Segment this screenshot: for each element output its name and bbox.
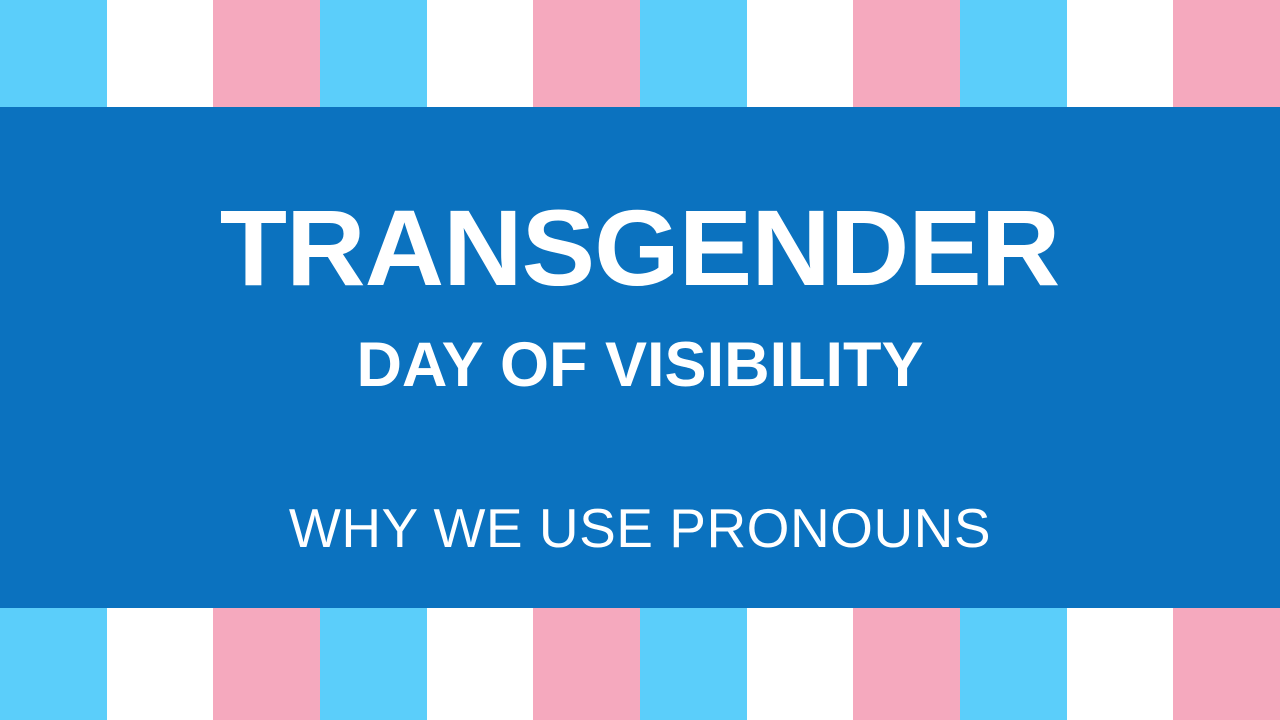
page-title: TRANSGENDER xyxy=(220,194,1060,302)
slide-canvas: TRANSGENDER DAY OF VISIBILITY WHY WE USE… xyxy=(0,0,1280,720)
page-tagline: WHY WE USE PRONOUNS xyxy=(289,501,991,556)
title-banner: TRANSGENDER DAY OF VISIBILITY WHY WE USE… xyxy=(0,107,1280,608)
page-subtitle: DAY OF VISIBILITY xyxy=(356,334,923,397)
